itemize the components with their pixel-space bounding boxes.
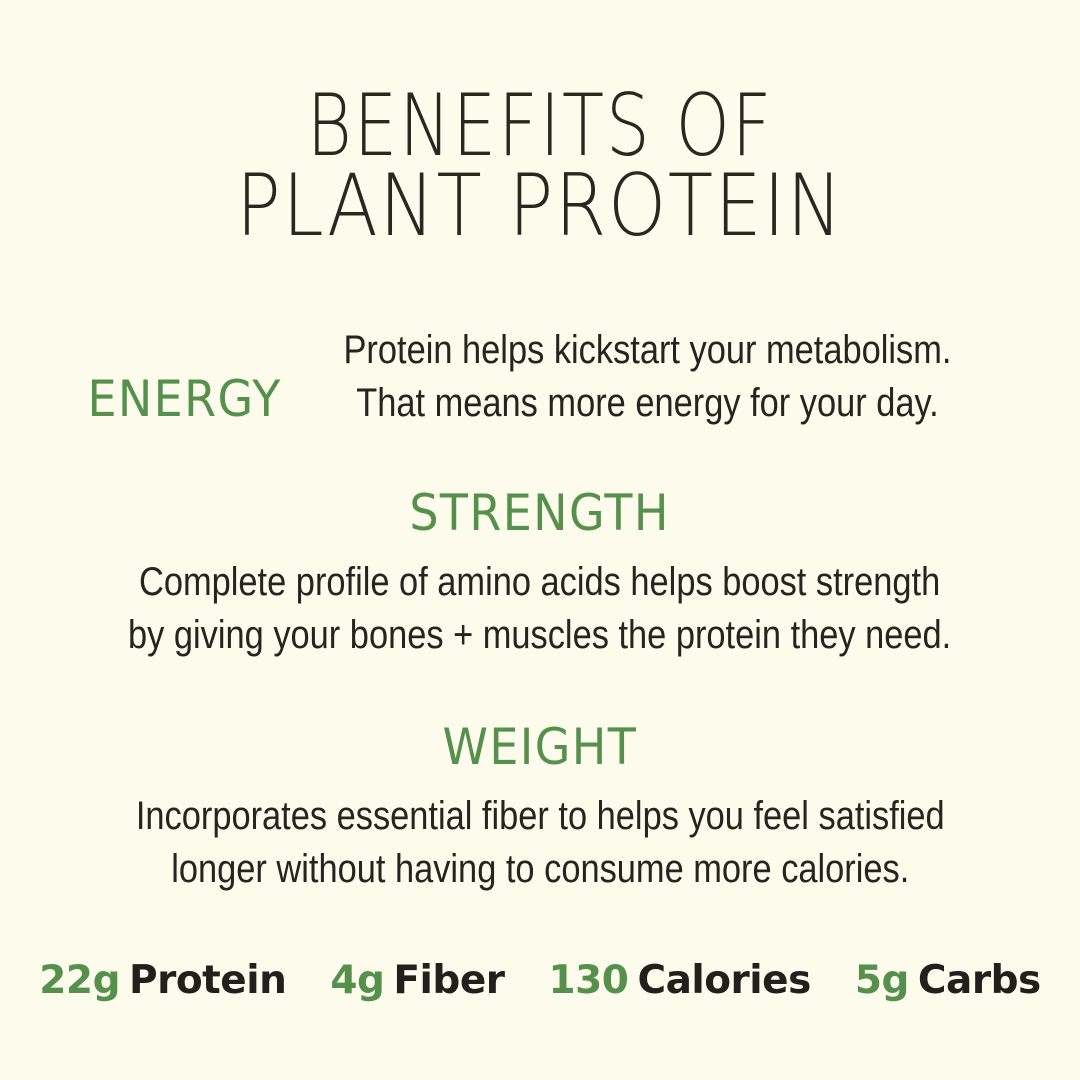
section-weight-heading: WEIGHT [443, 720, 638, 774]
stat-calories-value: 130 [549, 958, 629, 1003]
stat-protein: 22g Protein [39, 958, 286, 1003]
section-strength-body-line-2: by giving your bones + muscles the prote… [128, 609, 951, 662]
page-title: BENEFITS OF PLANT PROTEIN [0, 86, 1080, 246]
section-strength: STRENGTH Complete profile of amino acids… [0, 486, 1080, 662]
stat-fiber-value: 4g [330, 958, 384, 1003]
section-weight-body-line-2: longer without having to consume more ca… [136, 843, 945, 896]
stat-protein-value: 22g [39, 958, 120, 1003]
section-energy-body-line-2: That means more energy for your day. [344, 377, 952, 430]
section-weight: WEIGHT Incorporates essential fiber to h… [0, 720, 1080, 896]
plant-protein-benefits-poster: BENEFITS OF PLANT PROTEIN ENERGY Protein… [0, 0, 1080, 1080]
stat-fiber: 4g Fiber [330, 958, 504, 1003]
stat-carbs-value: 5g [855, 958, 909, 1003]
stat-calories-label: Calories [637, 958, 810, 1003]
section-energy-heading: ENERGY [87, 372, 281, 426]
page-title-line-2: PLANT PROTEIN [76, 166, 1005, 246]
section-energy-body: Protein helps kickstart your metabolism.… [344, 324, 952, 430]
section-weight-body: Incorporates essential fiber to helps yo… [136, 790, 945, 896]
stat-carbs: 5g Carbs [855, 958, 1041, 1003]
stat-protein-label: Protein [129, 958, 286, 1003]
stat-fiber-label: Fiber [393, 958, 504, 1003]
nutrition-stats-row: 22g Protein 4g Fiber 130 Calories 5g Car… [0, 958, 1080, 1003]
section-energy-body-line-1: Protein helps kickstart your metabolism. [344, 324, 952, 377]
stat-carbs-label: Carbs [918, 958, 1041, 1003]
section-energy: ENERGY Protein helps kickstart your meta… [0, 308, 1080, 430]
stat-calories: 130 Calories [549, 958, 811, 1003]
section-strength-heading: STRENGTH [410, 486, 670, 540]
section-strength-body-line-1: Complete profile of amino acids helps bo… [128, 556, 951, 609]
section-weight-body-line-1: Incorporates essential fiber to helps yo… [136, 790, 945, 843]
page-title-line-1: BENEFITS OF [108, 86, 972, 166]
section-strength-body: Complete profile of amino acids helps bo… [128, 556, 951, 662]
